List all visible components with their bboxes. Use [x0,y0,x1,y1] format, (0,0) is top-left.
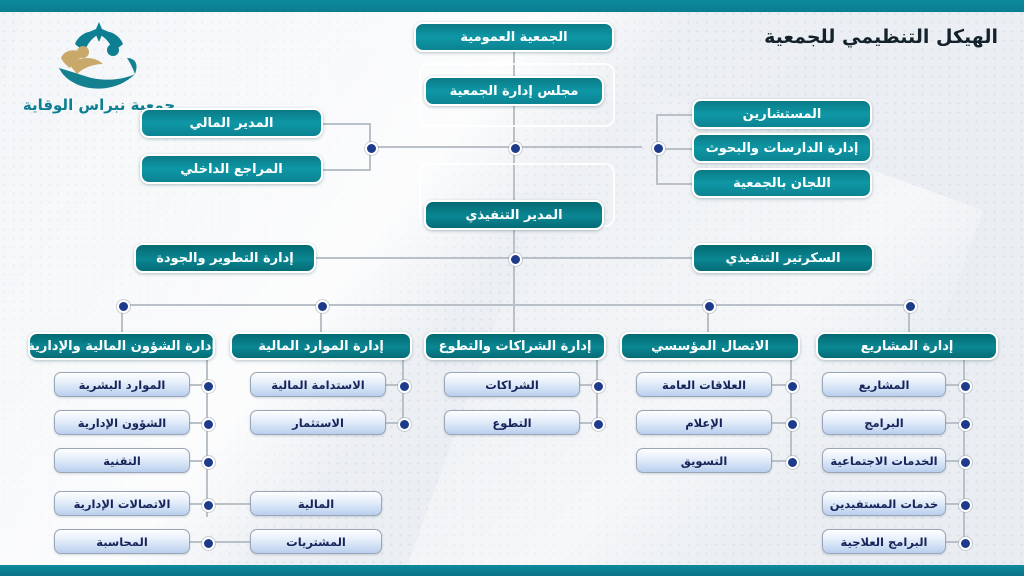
connector-left-bottom-stub [321,169,371,171]
connector-board-bus [370,146,642,148]
dept-item-volunteering[interactable]: التطوع [444,410,580,435]
junction-dot-dept-1 [117,300,130,313]
dept-item-social-services[interactable]: الخدمات الاجتماعية [822,448,946,473]
connector-left-top-stub [321,123,371,125]
junction-dot-board-center [509,142,522,155]
junction-dot-dept-4 [703,300,716,313]
node-executive-director[interactable]: المدير التنفيذي [424,200,604,230]
node-executive-secretary[interactable]: السكرتير التنفيذي [692,243,874,273]
junction-dot-dept-5 [904,300,917,313]
connector-executive-bus [314,257,694,259]
page-title: الهيكل التنظيمي للجمعية [764,26,998,48]
top-accent-bar [0,0,1024,12]
connector-col4-spine [790,360,792,462]
connector-drop-dept-3 [513,305,515,332]
item-dot-c1-4 [202,499,215,512]
item-dot-c5-5 [959,537,972,550]
association-logo: جمعية نبراس الوقاية [14,18,184,118]
item-dot-c1-5 [202,537,215,550]
dept-item-partnerships[interactable]: الشراكات [444,372,580,397]
dept-header-partnerships-volunteering[interactable]: إدارة الشراكات والتطوع [424,332,606,360]
connector-right-stub-1 [656,114,694,116]
junction-dot-dept-2 [316,300,329,313]
dept-header-financial-resources[interactable]: إدارة الموارد المالية [230,332,412,360]
dept-item-administrative-communications[interactable]: الاتصالات الإدارية [54,491,190,516]
dept-item-beneficiary-services[interactable]: خدمات المستفيدين [822,491,946,516]
node-association-committees[interactable]: اللجان بالجمعية [692,168,872,198]
dept-item-procurement[interactable]: المشتريات [250,529,382,554]
item-dot-c3-2 [592,418,605,431]
dept-item-finance[interactable]: المالية [250,491,382,516]
connector-right-stub-3 [656,183,694,185]
dept-item-public-relations[interactable]: العلاقات العامة [636,372,772,397]
dept-header-projects[interactable]: إدارة المشاريع [816,332,998,360]
item-dot-c5-4 [959,499,972,512]
dept-item-financial-sustainability[interactable]: الاستدامة المالية [250,372,386,397]
node-general-assembly[interactable]: الجمعية العمومية [414,22,614,52]
item-dot-c1-3 [202,456,215,469]
connector-departments-bus [122,304,914,306]
dept-item-administrative-affairs[interactable]: الشؤون الإدارية [54,410,190,435]
dept-item-human-resources[interactable]: الموارد البشرية [54,372,190,397]
dept-item-accounting[interactable]: المحاسبة [54,529,190,554]
dept-item-investment[interactable]: الاستثمار [250,410,386,435]
junction-dot-executive [509,253,522,266]
item-dot-c4-2 [786,418,799,431]
org-chart-canvas: جمعية نبراس الوقاية الهيكل التنظيمي للجم… [0,0,1024,576]
item-dot-c1-1 [202,380,215,393]
item-dot-c4-1 [786,380,799,393]
node-studies-research[interactable]: إدارة الدارسات والبحوث [692,133,872,163]
item-dot-c3-1 [592,380,605,393]
item-dot-c2-1 [398,380,411,393]
node-board-of-directors[interactable]: مجلس إدارة الجمعية [424,76,604,106]
dept-item-therapeutic-programs[interactable]: البرامج العلاجية [822,529,946,554]
item-dot-c5-1 [959,380,972,393]
dept-item-media[interactable]: الإعلام [636,410,772,435]
item-dot-c4-3 [786,456,799,469]
node-development-quality[interactable]: إدارة التطوير والجودة [134,243,316,273]
dept-item-projects[interactable]: المشاريع [822,372,946,397]
item-dot-c2-2 [398,418,411,431]
junction-dot-board-right [652,142,665,155]
item-dot-c5-2 [959,418,972,431]
nibras-association-logo-icon [39,18,159,94]
node-financial-manager[interactable]: المدير المالي [140,108,323,138]
item-dot-c5-3 [959,456,972,469]
dept-header-financial-administrative-affairs[interactable]: إدارة الشؤون المالية والإدارية [28,332,215,360]
bottom-accent-bar [0,565,1024,576]
junction-dot-board-left [365,142,378,155]
dept-item-programs[interactable]: البرامج [822,410,946,435]
dept-item-marketing[interactable]: التسويق [636,448,772,473]
node-advisors[interactable]: المستشارين [692,99,872,129]
dept-header-corporate-communication[interactable]: الاتصال المؤسسي [620,332,800,360]
item-dot-c1-2 [202,418,215,431]
dept-item-technology[interactable]: التقنية [54,448,190,473]
node-internal-auditor[interactable]: المراجع الداخلي [140,154,323,184]
